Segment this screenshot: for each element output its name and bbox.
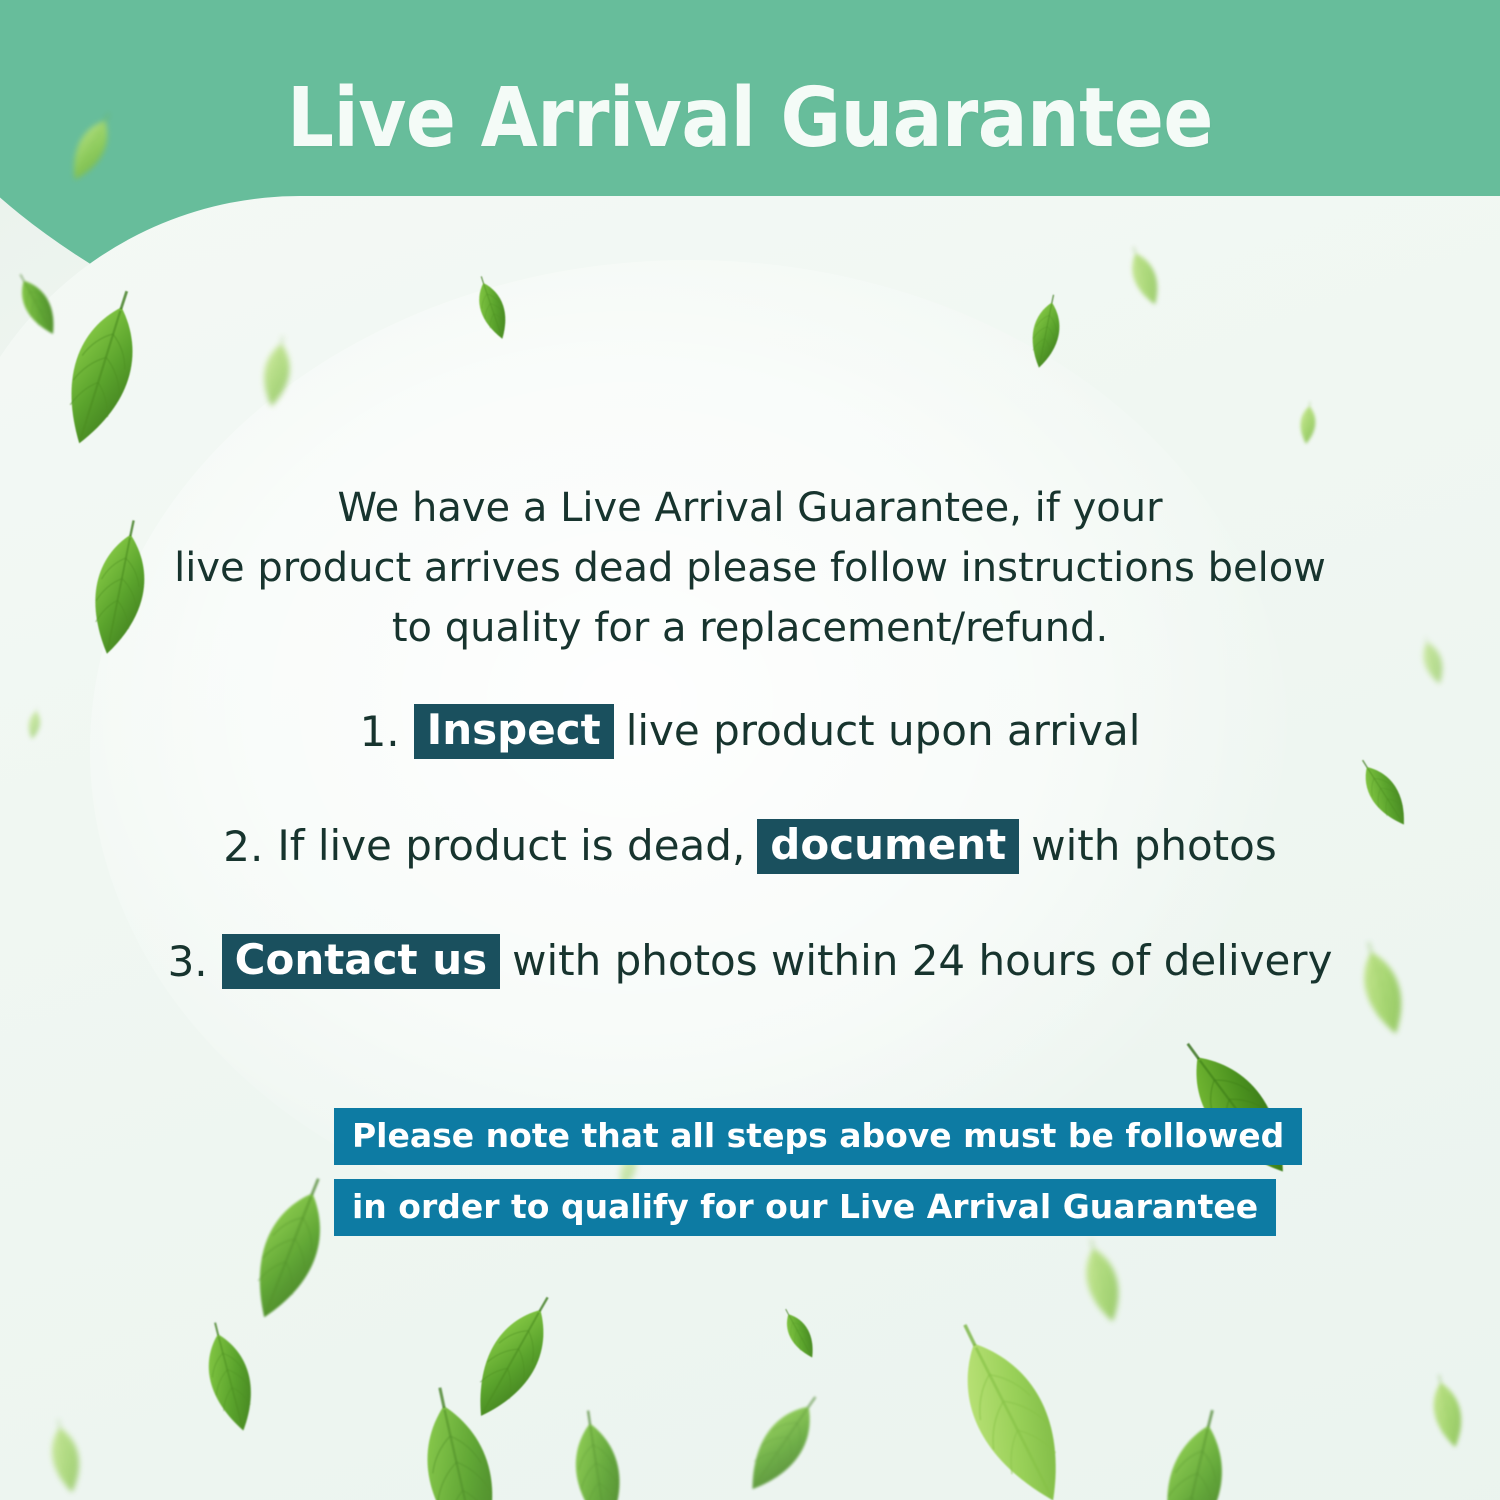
step-text-1: live product upon arrival xyxy=(626,710,1141,752)
step-number-2: 2. xyxy=(223,822,263,871)
note-line-1: Please note that all steps above must be… xyxy=(334,1108,1302,1165)
step-highlight-contact-us: Contact us xyxy=(222,934,501,989)
step-highlight-document: document xyxy=(757,819,1019,874)
step-text-3: with photos within 24 hours of delivery xyxy=(512,940,1332,982)
step-item-3: 3. Contact us with photos within 24 hour… xyxy=(0,930,1500,992)
step-text-2-after: with photos xyxy=(1031,825,1276,867)
intro-line-1: We have a Live Arrival Guarantee, if you… xyxy=(150,478,1350,538)
intro-line-3: to quality for a replacement/refund. xyxy=(150,598,1350,658)
note-line-2: in order to qualify for our Live Arrival… xyxy=(334,1179,1276,1236)
step-text-2-before: If live product is dead, xyxy=(277,825,745,867)
step-item-2: 2. If live product is dead, document wit… xyxy=(0,815,1500,877)
poster-content: Live Arrival Guarantee We have a Live Ar… xyxy=(0,0,1500,1500)
live-arrival-guarantee-poster: Live Arrival Guarantee We have a Live Ar… xyxy=(0,0,1500,1500)
step-number-1: 1. xyxy=(360,707,400,756)
intro-paragraph: We have a Live Arrival Guarantee, if you… xyxy=(150,478,1350,658)
page-title: Live Arrival Guarantee xyxy=(0,76,1500,162)
note-block: Please note that all steps above must be… xyxy=(0,1108,1500,1250)
step-highlight-inspect: Inspect xyxy=(414,704,614,759)
steps-list: 1. Inspect live product upon arrival 2. … xyxy=(0,700,1500,1045)
intro-line-2: live product arrives dead please follow … xyxy=(150,538,1350,598)
step-item-1: 1. Inspect live product upon arrival xyxy=(0,700,1500,762)
step-number-3: 3. xyxy=(168,937,208,986)
